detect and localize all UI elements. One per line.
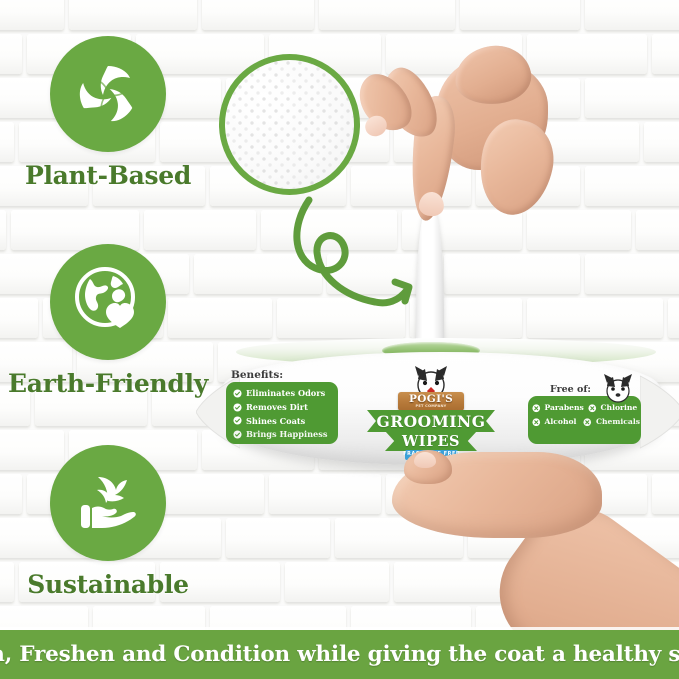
feature-label: Sustainable — [8, 570, 208, 599]
check-circle-icon — [233, 416, 242, 425]
brick-row — [0, 0, 679, 34]
free-of-item: Parabens — [532, 404, 584, 413]
brick — [527, 298, 663, 338]
brick — [0, 210, 6, 250]
banner-top-edge — [0, 627, 679, 630]
bottom-banner: Clean, Freshen and Condition while givin… — [0, 630, 679, 679]
brick — [527, 210, 631, 250]
hand-sprout-icon — [50, 445, 166, 561]
check-circle-icon — [233, 389, 242, 398]
brick — [460, 0, 580, 30]
free-of-item: Alcohol — [532, 418, 579, 427]
brand-wood-sign: POGI'S PET COMPANY — [398, 392, 464, 411]
brick — [652, 474, 679, 514]
x-circle-icon — [532, 404, 541, 413]
brick — [269, 474, 381, 514]
infographic-canvas: Plant-Based Earth-Friendly — [0, 0, 679, 679]
brick — [585, 0, 679, 30]
brick — [444, 254, 580, 294]
recycle-leaves-icon — [50, 36, 166, 152]
free-of-item: Chemicals — [583, 418, 640, 427]
brick — [527, 34, 647, 74]
boston-terrier-peeking-icon — [598, 374, 638, 404]
brick — [285, 562, 389, 602]
free-of-label: Parabens — [545, 404, 584, 412]
fingernail — [414, 452, 436, 468]
benefit-label: Eliminates Odors — [246, 389, 325, 397]
benefit-item: Shines Coats — [233, 416, 327, 425]
benefit-label: Brings Happiness — [246, 430, 327, 438]
grooming-ribbon: GROOMING — [367, 410, 495, 432]
globe-heart-icon — [50, 244, 166, 360]
feature-plant-based: Plant-Based — [8, 36, 208, 190]
benefit-item: Removes Dirt — [233, 403, 327, 412]
wipe-weave-pattern — [225, 60, 354, 189]
feature-label: Plant-Based — [8, 161, 208, 190]
brick — [226, 518, 330, 558]
brick — [0, 0, 64, 30]
benefits-title: Benefits: — [231, 369, 283, 381]
benefit-item: Brings Happiness — [233, 430, 327, 439]
brand-name: POGI'S — [409, 394, 453, 405]
brick — [69, 0, 197, 30]
brick — [585, 254, 679, 294]
free-of-label: Alcohol — [545, 418, 577, 426]
benefit-label: Shines Coats — [246, 417, 305, 425]
check-circle-icon — [233, 403, 242, 412]
benefit-item: Eliminates Odors — [233, 389, 327, 398]
x-circle-icon — [583, 418, 592, 427]
brick — [652, 34, 679, 74]
brick — [585, 166, 679, 206]
check-circle-icon — [233, 430, 242, 439]
free-of-label: Chlorine — [601, 404, 638, 412]
wipe-texture-closeup — [219, 54, 360, 195]
benefit-label: Removes Dirt — [246, 403, 308, 411]
x-circle-icon — [588, 404, 597, 413]
brick — [202, 0, 314, 30]
free-of-item: Chlorine — [588, 404, 637, 413]
brick — [585, 78, 679, 118]
wipes-label: WIPES — [402, 433, 460, 450]
grooming-label: GROOMING — [377, 412, 486, 431]
wipes-ribbon: WIPES — [385, 431, 477, 451]
package-right-tip — [640, 372, 679, 452]
brick — [668, 298, 679, 338]
brick — [636, 210, 679, 250]
x-circle-icon — [532, 418, 541, 427]
free-of-label: Chemicals — [596, 418, 640, 426]
brick — [319, 0, 455, 30]
feature-sustainable: Sustainable — [8, 445, 208, 599]
banner-text: Clean, Freshen and Condition while givin… — [0, 642, 679, 667]
feature-label: Earth-Friendly — [8, 369, 208, 398]
feature-earth-friendly: Earth-Friendly — [8, 244, 208, 398]
free-of-title: Free of: — [550, 384, 591, 395]
brand-tagline: PET COMPANY — [416, 405, 447, 409]
brick — [644, 122, 679, 162]
